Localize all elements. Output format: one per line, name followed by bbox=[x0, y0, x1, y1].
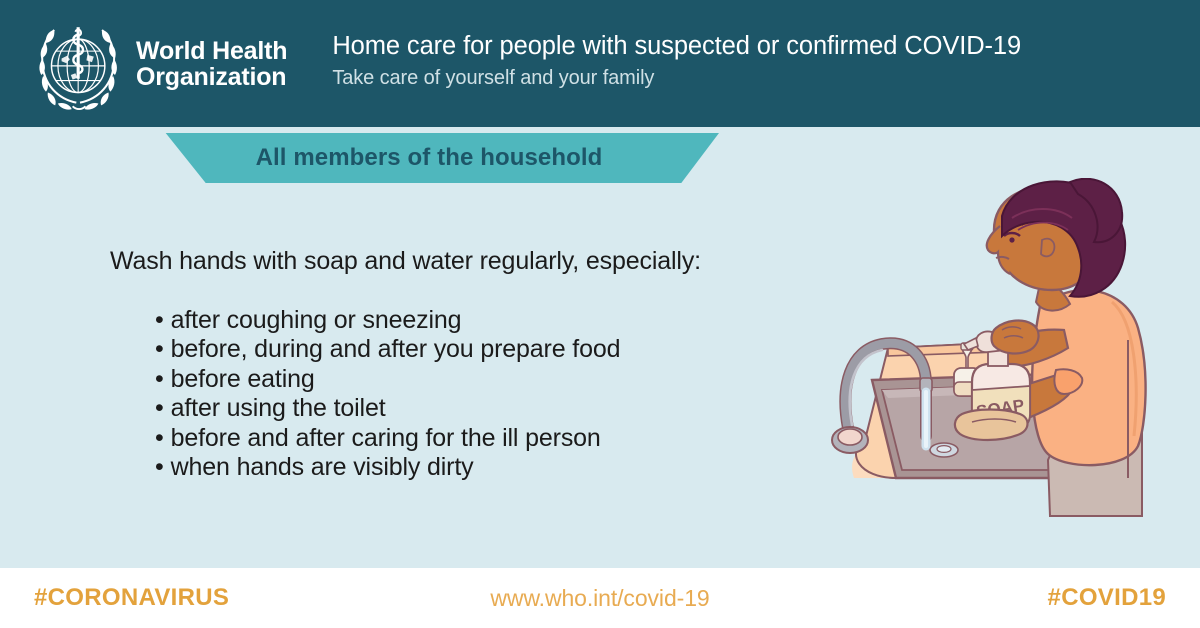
list-item: •when hands are visibly dirty bbox=[155, 453, 620, 482]
who-wordmark-line1: World Health bbox=[136, 38, 287, 64]
advice-list: •after coughing or sneezing •before, dur… bbox=[155, 306, 620, 482]
section-banner-label: All members of the household bbox=[256, 144, 603, 172]
website-url[interactable]: www.who.int/covid-19 bbox=[0, 585, 1200, 612]
bullet-icon: • bbox=[155, 365, 164, 393]
bullet-icon: • bbox=[155, 424, 164, 452]
page-subtitle: Take care of yourself and your family bbox=[332, 65, 1021, 92]
list-item-label: before and after caring for the ill pers… bbox=[171, 424, 601, 452]
bullet-icon: • bbox=[155, 306, 164, 334]
bullet-icon: • bbox=[155, 335, 164, 363]
list-item: •before, during and after you prepare fo… bbox=[155, 335, 620, 364]
who-logo: World Health Organization bbox=[34, 18, 287, 110]
woman-washing-hands-at-sink-illustration: SOAP bbox=[826, 178, 1200, 533]
list-item-label: after coughing or sneezing bbox=[171, 306, 462, 334]
page-title: Home care for people with suspected or c… bbox=[332, 31, 1021, 62]
list-item: •before eating bbox=[155, 365, 620, 394]
bullet-icon: • bbox=[155, 453, 164, 481]
who-wordmark: World Health Organization bbox=[136, 38, 287, 90]
header-bar: World Health Organization Home care for … bbox=[0, 0, 1200, 127]
list-item: •after using the toilet bbox=[155, 394, 620, 423]
footer-bar: #CORONAVIRUS www.who.int/covid-19 #COVID… bbox=[0, 568, 1200, 628]
list-item-label: after using the toilet bbox=[171, 394, 386, 422]
header-text-block: Home care for people with suspected or c… bbox=[332, 31, 1021, 96]
list-item-label: before eating bbox=[171, 365, 315, 393]
list-item: •after coughing or sneezing bbox=[155, 306, 620, 335]
section-banner: All members of the household bbox=[139, 133, 719, 183]
bullet-icon: • bbox=[155, 394, 164, 422]
list-item: •before and after caring for the ill per… bbox=[155, 424, 620, 453]
who-wordmark-line2: Organization bbox=[136, 64, 287, 90]
list-item-label: before, during and after you prepare foo… bbox=[171, 335, 621, 363]
who-emblem-icon bbox=[34, 18, 126, 110]
hashtag-covid19[interactable]: #COVID19 bbox=[1048, 584, 1166, 612]
lead-text: Wash hands with soap and water regularly… bbox=[110, 247, 701, 276]
list-item-label: when hands are visibly dirty bbox=[171, 453, 474, 481]
